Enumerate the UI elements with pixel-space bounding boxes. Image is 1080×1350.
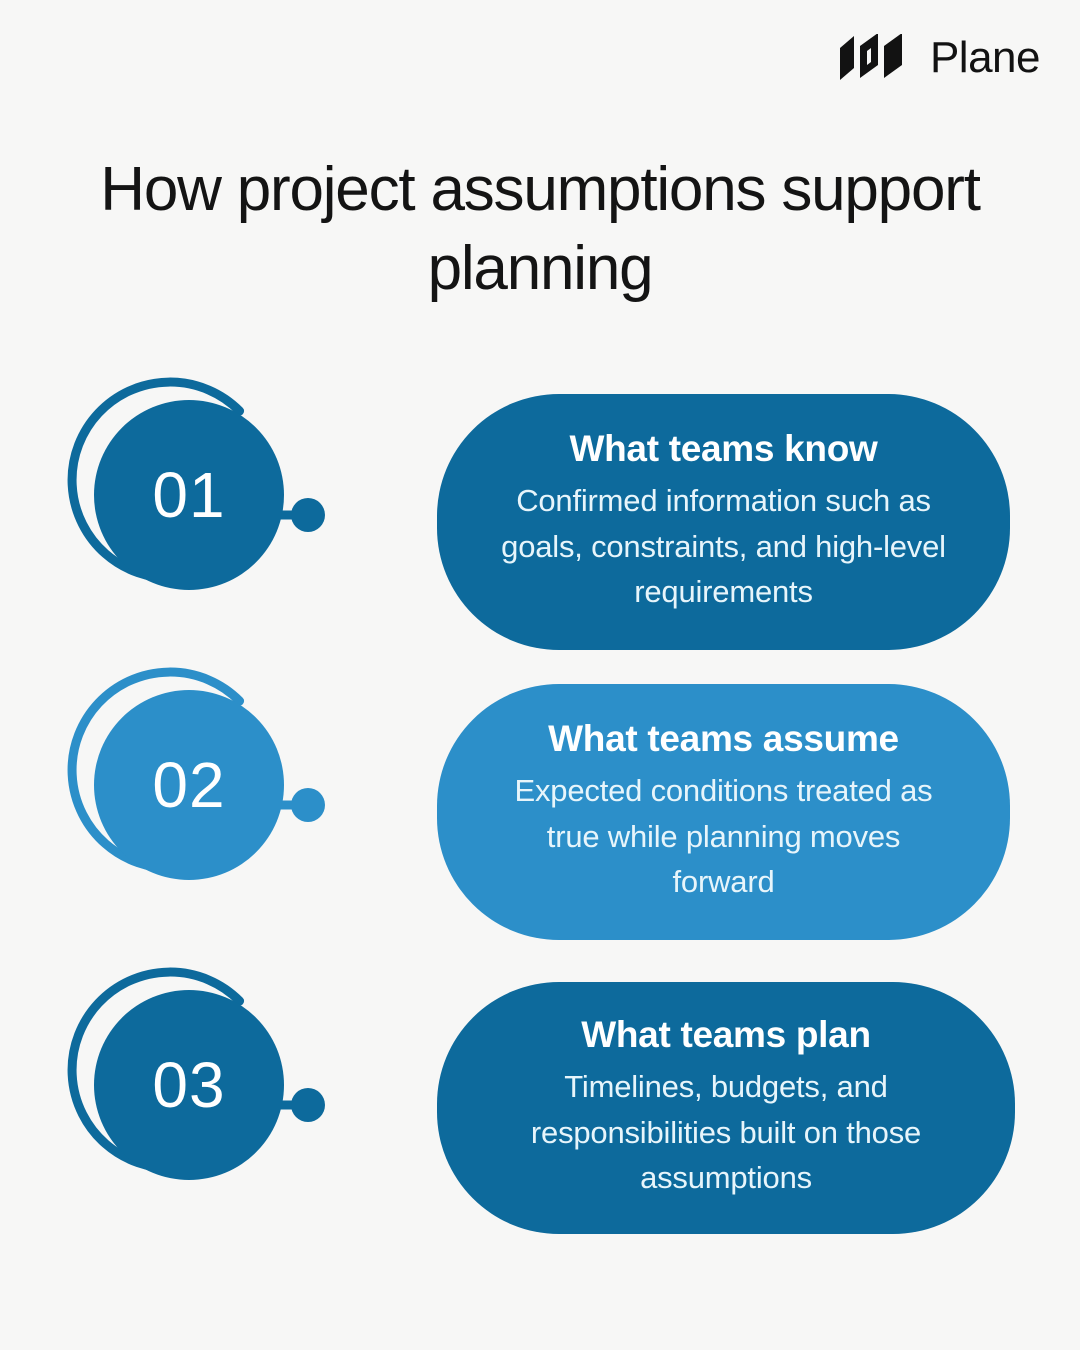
step-heading-3: What teams plan — [487, 1012, 965, 1058]
page-title: How project assumptions support planning — [90, 150, 990, 309]
step-badge-2[interactable]: 02 — [64, 660, 314, 910]
step-number-2: 02 — [94, 690, 284, 880]
step-number-1: 01 — [94, 400, 284, 590]
infographic-page: Plane How project assumptions support pl… — [0, 0, 1080, 1350]
step-heading-2: What teams assume — [497, 716, 950, 762]
step-card-2[interactable]: What teams assume Expected conditions tr… — [437, 684, 1010, 940]
step-row-1: 01 What teams know Confirmed information… — [0, 370, 1080, 660]
step-card-3[interactable]: What teams plan Timelines, budgets, and … — [437, 982, 1015, 1234]
step-body-1: Confirmed information such as goals, con… — [491, 478, 956, 614]
step-heading-1: What teams know — [491, 426, 956, 472]
steps-list: 01 What teams know Confirmed information… — [0, 370, 1080, 1240]
plane-logo-icon — [838, 34, 916, 82]
step-body-2: Expected conditions treated as true whil… — [497, 768, 950, 904]
step-row-3: 03 What teams plan Timelines, budgets, a… — [0, 960, 1080, 1240]
brand-name: Plane — [930, 36, 1040, 80]
step-badge-1[interactable]: 01 — [64, 370, 314, 620]
brand-logo: Plane — [838, 34, 1040, 82]
step-card-1[interactable]: What teams know Confirmed information su… — [437, 394, 1010, 650]
step-number-3: 03 — [94, 990, 284, 1180]
step-badge-3[interactable]: 03 — [64, 960, 314, 1210]
step-row-2: 02 What teams assume Expected conditions… — [0, 660, 1080, 960]
step-body-3: Timelines, budgets, and responsibilities… — [487, 1064, 965, 1200]
